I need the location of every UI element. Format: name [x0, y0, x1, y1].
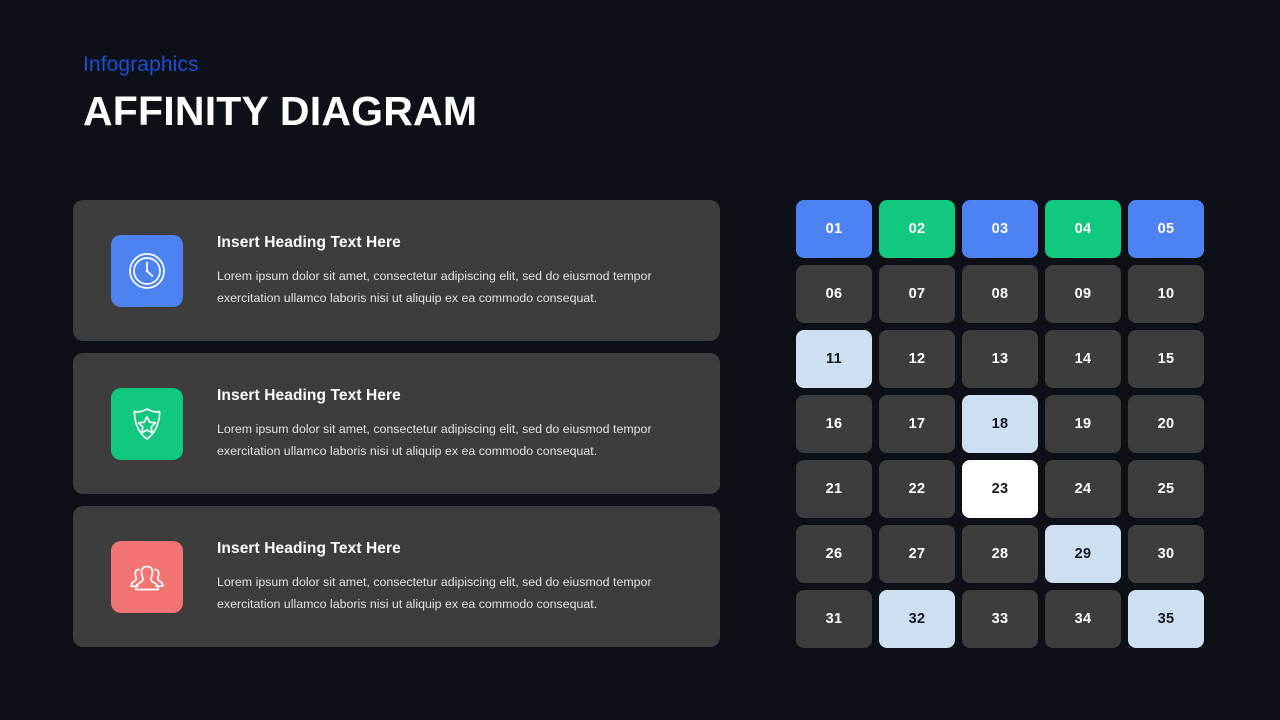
grid-cell[interactable]: 17 [879, 395, 955, 453]
grid-cell[interactable]: 03 [962, 200, 1038, 258]
grid-cell[interactable]: 14 [1045, 330, 1121, 388]
grid-cell[interactable]: 13 [962, 330, 1038, 388]
card-list: Insert Heading Text Here Lorem ipsum dol… [73, 200, 720, 647]
grid-cell[interactable]: 15 [1128, 330, 1204, 388]
page-header: Infographics AFFINITY DIAGRAM [83, 52, 477, 135]
grid-cell[interactable]: 32 [879, 590, 955, 648]
card-body: Insert Heading Text Here Lorem ipsum dol… [217, 232, 692, 309]
card-body: Insert Heading Text Here Lorem ipsum dol… [217, 538, 692, 615]
grid-cell[interactable]: 18 [962, 395, 1038, 453]
grid-cell[interactable]: 27 [879, 525, 955, 583]
card-body: Insert Heading Text Here Lorem ipsum dol… [217, 385, 692, 462]
grid-cell[interactable]: 04 [1045, 200, 1121, 258]
card-item[interactable]: Insert Heading Text Here Lorem ipsum dol… [73, 200, 720, 341]
grid-cell[interactable]: 28 [962, 525, 1038, 583]
card-heading: Insert Heading Text Here [217, 234, 692, 252]
card-item[interactable]: Insert Heading Text Here Lorem ipsum dol… [73, 353, 720, 494]
grid-cell[interactable]: 16 [796, 395, 872, 453]
card-description: Lorem ipsum dolor sit amet, consectetur … [217, 571, 669, 615]
grid-cell[interactable]: 31 [796, 590, 872, 648]
page-title: AFFINITY DIAGRAM [83, 88, 477, 135]
grid-cell[interactable]: 34 [1045, 590, 1121, 648]
users-group-icon [111, 541, 183, 613]
grid-cell[interactable]: 09 [1045, 265, 1121, 323]
eyebrow-label: Infographics [83, 52, 477, 77]
grid-cell[interactable]: 06 [796, 265, 872, 323]
grid-cell[interactable]: 30 [1128, 525, 1204, 583]
grid-cell[interactable]: 29 [1045, 525, 1121, 583]
card-heading: Insert Heading Text Here [217, 387, 692, 405]
grid-cell[interactable]: 07 [879, 265, 955, 323]
grid-cell[interactable]: 35 [1128, 590, 1204, 648]
grid-cell[interactable]: 24 [1045, 460, 1121, 518]
shield-star-icon [111, 388, 183, 460]
grid-cell[interactable]: 21 [796, 460, 872, 518]
card-item[interactable]: Insert Heading Text Here Lorem ipsum dol… [73, 506, 720, 647]
grid-cell[interactable]: 10 [1128, 265, 1204, 323]
grid-cell[interactable]: 08 [962, 265, 1038, 323]
grid-cell[interactable]: 12 [879, 330, 955, 388]
grid-cell[interactable]: 02 [879, 200, 955, 258]
grid-cell[interactable]: 25 [1128, 460, 1204, 518]
grid-cell[interactable]: 01 [796, 200, 872, 258]
grid-cell[interactable]: 05 [1128, 200, 1204, 258]
card-heading: Insert Heading Text Here [217, 540, 692, 558]
grid-cell[interactable]: 20 [1128, 395, 1204, 453]
affinity-number-grid: 0102030405060708091011121314151617181920… [796, 200, 1204, 648]
clock-icon [111, 235, 183, 307]
grid-cell[interactable]: 33 [962, 590, 1038, 648]
card-description: Lorem ipsum dolor sit amet, consectetur … [217, 265, 669, 309]
grid-cell[interactable]: 26 [796, 525, 872, 583]
card-description: Lorem ipsum dolor sit amet, consectetur … [217, 418, 669, 462]
grid-cell[interactable]: 22 [879, 460, 955, 518]
grid-cell[interactable]: 23 [962, 460, 1038, 518]
grid-cell[interactable]: 19 [1045, 395, 1121, 453]
grid-cell[interactable]: 11 [796, 330, 872, 388]
